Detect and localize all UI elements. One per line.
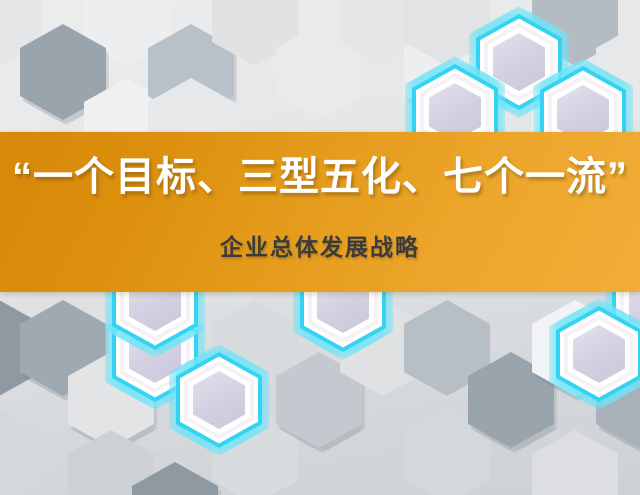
page-title: “一个目标、三型五化、七个一流”: [0, 154, 640, 200]
glowing-hexagon: [556, 306, 640, 402]
hexagon-tile: [0, 408, 42, 495]
page-subtitle: 企业总体发展战略: [0, 228, 640, 262]
hexagon-tile: [532, 430, 618, 495]
glowing-hexagon: [176, 352, 262, 448]
presentation-slide: “一个目标、三型五化、七个一流” 企业总体发展战略: [0, 0, 640, 495]
title-band: “一个目标、三型五化、七个一流” 企业总体发展战略: [0, 132, 640, 292]
